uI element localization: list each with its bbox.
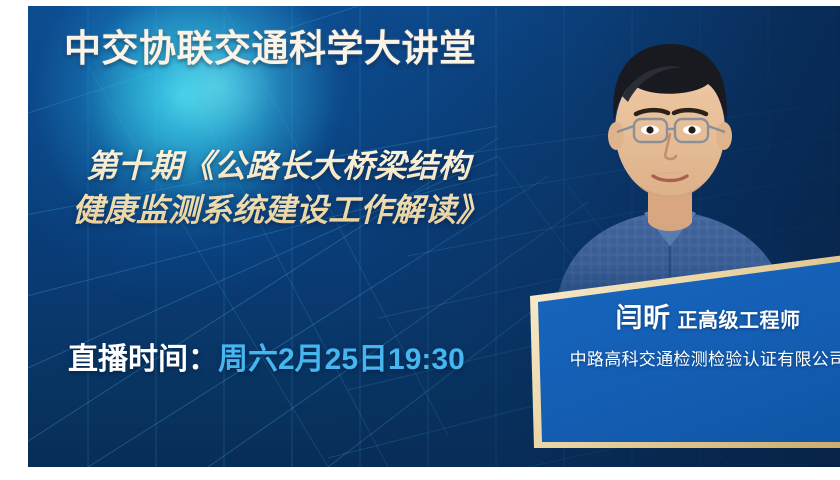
poster-stage: 中交协联交通科学大讲堂 第十期《公路长大桥梁结构 健康监测系统建设工作解读》 直…: [28, 6, 840, 467]
page-title: 中交协联交通科学大讲堂: [64, 30, 477, 69]
speaker-panel: 闫昕正高级工程师 中路高科交通检测检验认证有限公司: [488, 252, 840, 452]
broadcast-time: 直播时间：周六2月25日19:30: [68, 334, 465, 378]
lecture-subtitle: 第十期《公路长大桥梁结构 健康监测系统建设工作解读》: [68, 144, 488, 232]
subtitle-line-1: 第十期《公路长大桥梁结构: [68, 144, 488, 188]
broadcast-time-label: 直播时间：: [68, 343, 218, 376]
poster-canvas: 中交协联交通科学大讲堂 第十期《公路长大桥梁结构 健康监测系统建设工作解读》 直…: [0, 0, 840, 480]
speaker-identity: 闫昕正高级工程师: [548, 296, 840, 335]
speaker-name: 闫昕: [616, 303, 671, 333]
broadcast-time-value: 周六2月25日19:30: [218, 343, 465, 376]
speaker-organization: 中路高科交通检测检验认证有限公司: [548, 345, 840, 370]
speaker-title: 正高级工程师: [678, 310, 801, 332]
subtitle-line-2: 健康监测系统建设工作解读》: [68, 188, 488, 232]
panel-content: 闫昕正高级工程师 中路高科交通检测检验认证有限公司: [548, 296, 840, 370]
